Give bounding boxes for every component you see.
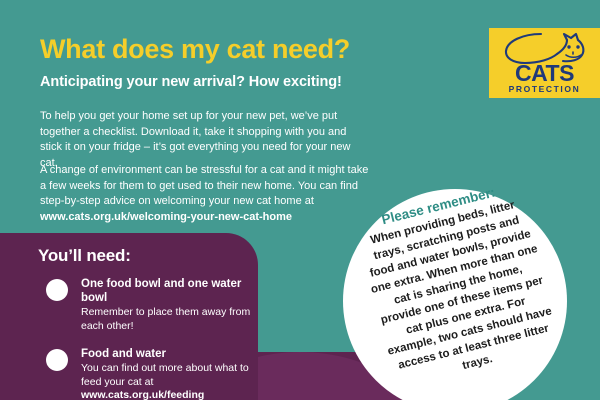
list-item-detail-text: You can find out more about what to feed… — [81, 362, 249, 388]
list-item: Food and water You can find out more abo… — [38, 347, 263, 400]
checklist-list: One food bowl and one water bowl Remembe… — [38, 277, 263, 400]
feeding-url[interactable]: www.cats.org.uk/feeding — [81, 389, 204, 400]
checkbox-circle-icon[interactable] — [46, 349, 68, 371]
list-item-title: One food bowl and one water bowl — [81, 277, 263, 305]
list-item-detail-text: Remember to place them away from each ot… — [81, 306, 250, 332]
cats-protection-logo: CATS PROTECTION — [489, 28, 600, 98]
poster-canvas: CATS PROTECTION What does my cat need? A… — [0, 0, 600, 400]
logo-wordmark-cats: CATS — [489, 61, 600, 85]
checklist-heading: You’ll need: — [38, 246, 131, 266]
list-item-detail: Remember to place them away from each ot… — [81, 306, 263, 333]
checkbox-circle-icon[interactable] — [46, 279, 68, 301]
intro-paragraph-1: To help you get your home set up for you… — [40, 109, 370, 171]
list-item: One food bowl and one water bowl Remembe… — [38, 277, 263, 333]
list-item-detail: You can find out more about what to feed… — [81, 362, 263, 400]
intro-paragraph-2: A change of environment can be stressful… — [40, 163, 370, 225]
intro-paragraph-2-text: A change of environment can be stressful… — [40, 164, 368, 207]
page-title: What does my cat need? — [40, 34, 350, 65]
list-item-title: Food and water — [81, 347, 263, 361]
welcoming-cat-url[interactable]: www.cats.org.uk/welcoming-your-new-cat-h… — [40, 211, 292, 223]
page-subtitle: Anticipating your new arrival? How excit… — [40, 74, 342, 90]
logo-wordmark-protection: PROTECTION — [489, 84, 600, 94]
